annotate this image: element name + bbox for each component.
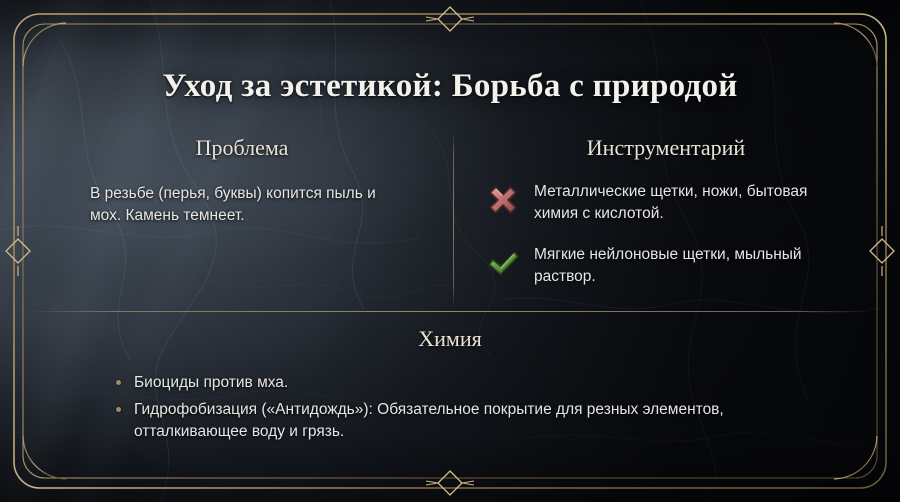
chemistry-bullet-list: Биоциды против мха. Гидрофобизация («Ант… — [62, 372, 838, 443]
list-item: Гидрофобизация («Антидождь»): Обязательн… — [116, 399, 838, 443]
cross-mark-icon — [486, 183, 520, 217]
list-item-text: Биоциды против мха. — [134, 374, 288, 391]
check-mark-icon — [486, 246, 520, 280]
chemistry-section: Химия Биоциды против мха. Гидрофобизация… — [62, 326, 838, 448]
chemistry-heading: Химия — [62, 326, 838, 352]
tools-heading: Инструментарий — [486, 135, 846, 161]
problem-heading: Проблема — [62, 135, 422, 161]
problem-section: Проблема В резьбе (перья, буквы) копится… — [62, 135, 422, 243]
tool-item-good-text: Мягкие нейлоновые щетки, мыльный раствор… — [534, 244, 846, 289]
tool-item-bad-text: Металлические щетки, ножи, бытовая химия… — [534, 181, 846, 226]
presentation-slide: Уход за эстетикой: Борьба с природой Про… — [0, 0, 900, 502]
tools-section: Инструментарий — [486, 135, 846, 307]
list-item-text: Гидрофобизация («Антидождь»): Обязательн… — [134, 401, 724, 440]
list-item: Биоциды против мха. — [116, 372, 838, 394]
tool-item-bad: Металлические щетки, ножи, бытовая химия… — [486, 181, 846, 226]
horizontal-divider — [30, 311, 870, 312]
bullet-dot-icon — [116, 380, 121, 385]
problem-text: В резьбе (перья, буквы) копится пыль и м… — [62, 183, 422, 228]
bullet-dot-icon — [116, 407, 121, 412]
slide-title: Уход за эстетикой: Борьба с природой — [0, 68, 900, 105]
vertical-divider — [453, 132, 454, 308]
slide-content: Уход за эстетикой: Борьба с природой Про… — [0, 0, 900, 502]
tool-item-good: Мягкие нейлоновые щетки, мыльный раствор… — [486, 244, 846, 289]
